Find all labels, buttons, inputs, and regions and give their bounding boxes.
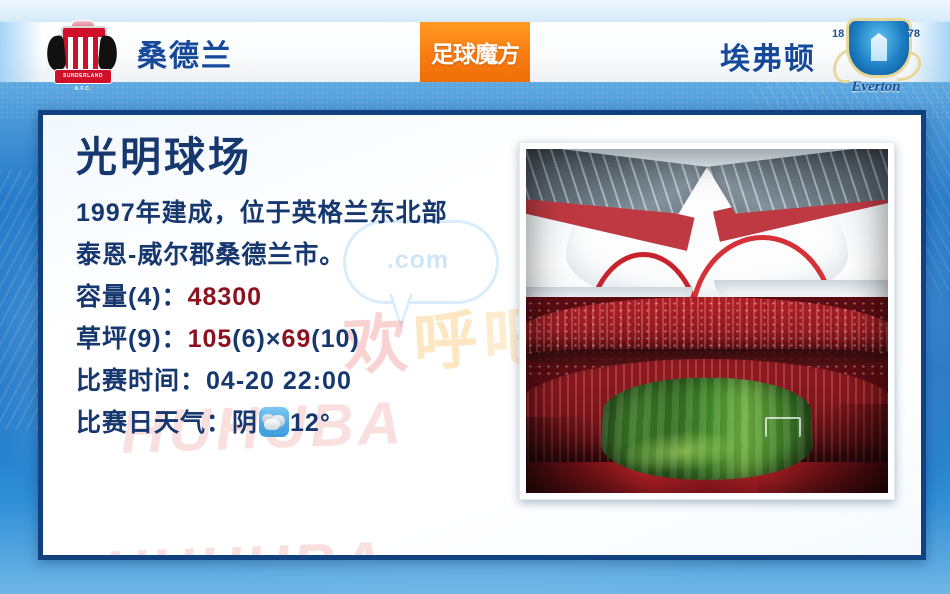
capacity-label: 容量(4)： [76, 283, 188, 311]
stadium-details: 光明球场 1997年建成，位于英格兰东北部 泰恩-威尔郡桑德兰市。 容量(4)：… [76, 137, 448, 444]
match-time-label: 比赛时间： [76, 367, 206, 395]
match-time-value: 04-20 22:00 [206, 367, 352, 395]
watermark-brand-cn: 欢呼吧 [306, 535, 521, 555]
site-logo[interactable]: 足球魔方 [420, 22, 530, 82]
info-panel-inner: .com .com HUHUBA HUHUBA 欢呼吧 欢呼吧 光明球场 199… [43, 115, 921, 555]
stadium-title: 光明球场 [76, 137, 448, 178]
crest-year-left: 18 [832, 28, 844, 40]
capacity-value: 48300 [188, 283, 263, 311]
weather-condition: 阴 [232, 409, 258, 437]
watermark-cn-char-2: 呼 [376, 553, 450, 555]
cloudy-icon [259, 407, 289, 437]
pitch-row: 草坪(9)：105(6)×69(10) [76, 318, 448, 360]
crest-ribbon: SUNDERLAND A.F.C. [54, 69, 112, 84]
stadium-info-card: SUNDERLAND A.F.C. 桑德兰 足球魔方 埃弗顿 18 78 Eve… [0, 0, 950, 594]
crest-lion-right [97, 35, 118, 71]
away-team-block[interactable]: 埃弗顿 18 78 Everton [720, 14, 920, 98]
stadium-description-line-1: 1997年建成，位于英格兰东北部 [76, 192, 448, 234]
away-team-name: 埃弗顿 [720, 34, 816, 78]
capacity-row: 容量(4)：48300 [76, 276, 448, 318]
sunderland-crest-icon: SUNDERLAND A.F.C. [45, 20, 119, 86]
pitch-length-rank: (6) [232, 325, 266, 353]
home-team-name: 桑德兰 [137, 31, 233, 75]
weather-row: 比赛日天气：阴12° [76, 402, 448, 444]
photo-vignette [526, 149, 888, 493]
crest-tower-shape [871, 33, 887, 61]
stadium-description-line-2: 泰恩-威尔郡桑德兰市。 [76, 234, 448, 276]
weather-temperature: 12° [290, 409, 331, 437]
site-logo-text: 足球魔方 [431, 35, 519, 69]
home-team-block[interactable]: SUNDERLAND A.F.C. 桑德兰 [45, 20, 233, 86]
info-panel: .com .com HUHUBA HUHUBA 欢呼吧 欢呼吧 光明球场 199… [38, 110, 926, 560]
crest-year-right: 78 [908, 28, 920, 40]
pitch-width-rank: (10) [311, 325, 359, 353]
stadium-photo-frame[interactable] [519, 142, 895, 500]
watermark-cn-char-3: 吧 [446, 550, 520, 555]
pitch-width-value: 69 [281, 325, 311, 353]
pitch-label: 草坪(9)： [76, 325, 188, 353]
stadium-photo [526, 149, 888, 493]
everton-crest-icon: 18 78 Everton [832, 14, 920, 98]
match-time-row: 比赛时间：04-20 22:00 [76, 360, 448, 402]
watermark-brand-latin: HUHUBA [102, 528, 388, 555]
weather-label: 比赛日天气： [76, 409, 232, 437]
pitch-dimension-separator: × [266, 325, 282, 353]
crest-lion-left [45, 35, 66, 71]
crest-club-name: Everton [836, 77, 916, 98]
pitch-length-value: 105 [188, 325, 233, 353]
